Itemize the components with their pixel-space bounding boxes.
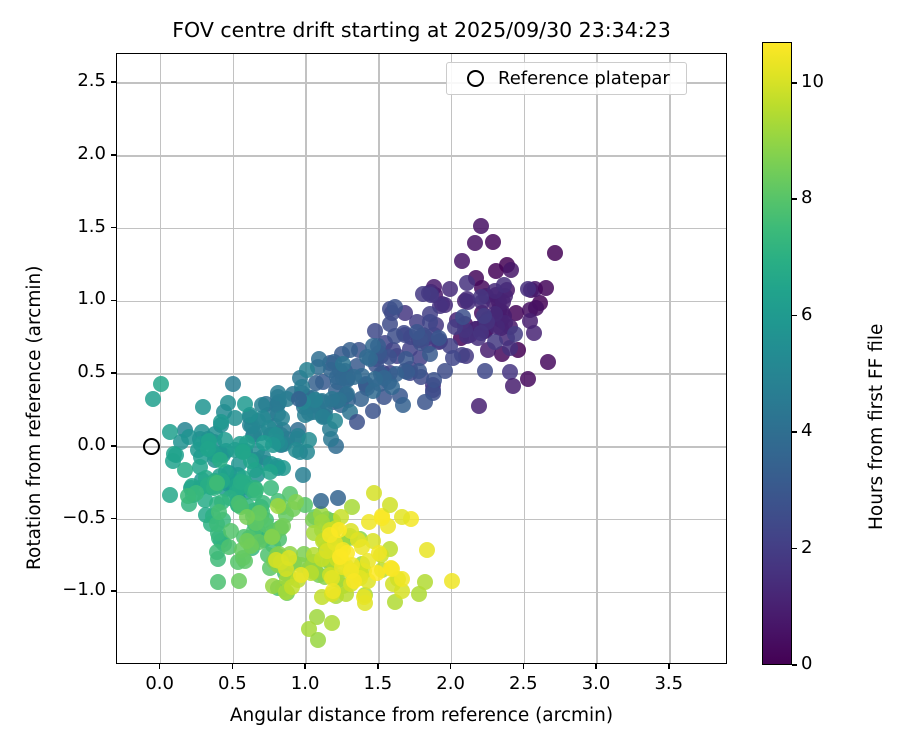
scatter-point [520, 281, 536, 297]
figure-canvas: FOV centre drift starting at 2025/09/30 … [0, 0, 900, 750]
scatter-point [264, 529, 280, 545]
legend: Reference platepar [446, 62, 687, 95]
x-tick-mark [668, 664, 670, 669]
y-tick-label: 2.5 [18, 70, 106, 91]
scatter-point [262, 464, 278, 480]
scatter-point [442, 281, 458, 297]
colorbar-tick-label: 4 [801, 420, 812, 441]
x-tick-label: 3.0 [556, 673, 636, 694]
scatter-point [295, 467, 311, 483]
colorbar-tick-label: 0 [801, 653, 812, 674]
scatter-point [496, 277, 512, 293]
y-tick-mark [111, 445, 116, 447]
x-tick-label: 0.5 [192, 673, 272, 694]
colorbar-tick-label: 8 [801, 187, 812, 208]
scatter-point [417, 574, 433, 590]
scatter-point [225, 376, 241, 392]
scatter-point [210, 574, 226, 590]
x-tick-mark [377, 664, 379, 669]
scatter-point [444, 573, 460, 589]
scatter-point [417, 394, 433, 410]
x-tick-mark [450, 664, 452, 669]
x-tick-label: 2.5 [483, 673, 563, 694]
scatter-point [538, 280, 554, 296]
scatter-point [177, 462, 193, 478]
scatter-point [227, 410, 243, 426]
colorbar-label: Hours from first FF file [866, 324, 887, 530]
colorbar-tick-label: 2 [801, 537, 812, 558]
scatter-point [162, 487, 178, 503]
scatter-point [365, 403, 381, 419]
scatter-point [324, 615, 340, 631]
scatter-point [180, 488, 196, 504]
chart-title: FOV centre drift starting at 2025/09/30 … [116, 18, 727, 42]
scatter-point [369, 565, 385, 581]
x-tick-mark [595, 664, 597, 669]
scatter-point [346, 369, 362, 385]
y-tick-mark [111, 227, 116, 229]
scatter-point [145, 391, 161, 407]
scatter-point [384, 561, 400, 577]
y-tick-label: −1.0 [18, 579, 106, 600]
y-axis-label: Rotation from reference (arcmin) [24, 266, 45, 570]
scatter-point [485, 234, 501, 250]
colorbar-tick-mark [792, 548, 797, 550]
scatter-point [459, 275, 475, 291]
scatter-point [209, 475, 225, 491]
y-tick-mark [111, 590, 116, 592]
x-tick-mark [232, 664, 234, 669]
scatter-point [395, 397, 411, 413]
x-tick-label: 3.5 [629, 673, 709, 694]
scatter-point [422, 346, 438, 362]
scatter-point [153, 376, 169, 392]
scatter-point [477, 363, 493, 379]
scatter-point [473, 218, 489, 234]
scatter-point [487, 334, 503, 350]
scatter-point [270, 498, 286, 514]
colorbar-tick-mark [792, 431, 797, 433]
scatter-point [293, 567, 309, 583]
colorbar-tick-label: 6 [801, 304, 812, 325]
scatter-point [503, 262, 519, 278]
x-axis-label: Angular distance from reference (arcmin) [116, 705, 727, 726]
scatter-point [239, 509, 255, 525]
scatter-point [220, 395, 236, 411]
scatter-point [547, 245, 563, 261]
scatter-point [330, 490, 346, 506]
colorbar-tick-mark [792, 664, 797, 666]
colorbar-tick-mark [792, 315, 797, 317]
scatter-point [346, 573, 362, 589]
scatter-point [342, 342, 358, 358]
scatter-point [235, 444, 251, 460]
scatter-point [540, 354, 556, 370]
open-circle-icon [467, 70, 484, 87]
scatter-point [325, 583, 341, 599]
scatter-point [473, 289, 489, 305]
scatter-point [526, 325, 542, 341]
x-tick-label: 1.5 [338, 673, 418, 694]
scatter-point [335, 356, 351, 372]
scatter-point [471, 398, 487, 414]
y-tick-mark [111, 154, 116, 156]
scatter-points-layer [117, 54, 726, 663]
colorbar-tick-label: 10 [801, 71, 824, 92]
x-tick-label: 1.0 [265, 673, 345, 694]
scatter-point [327, 413, 343, 429]
y-tick-label: 1.5 [18, 216, 106, 237]
y-tick-mark [111, 300, 116, 302]
scatter-point [311, 351, 327, 367]
scatter-point [505, 378, 521, 394]
scatter-point [366, 485, 382, 501]
scatter-point [426, 372, 442, 388]
scatter-point [507, 326, 523, 342]
scatter-point [212, 452, 228, 468]
scatter-point [223, 523, 239, 539]
scatter-point [237, 396, 253, 412]
scatter-point [301, 432, 317, 448]
x-tick-mark [159, 664, 161, 669]
x-tick-label: 2.0 [411, 673, 491, 694]
colorbar [762, 42, 792, 665]
legend-label-reference-platepar: Reference platepar [498, 68, 676, 89]
plot-area [116, 53, 727, 664]
scatter-point [239, 533, 255, 549]
scatter-point [371, 545, 387, 561]
scatter-point [520, 371, 536, 387]
scatter-point [231, 573, 247, 589]
scatter-point [367, 323, 383, 339]
y-tick-mark [111, 81, 116, 83]
scatter-point [394, 509, 410, 525]
y-tick-mark [111, 518, 116, 520]
scatter-point [291, 391, 307, 407]
y-tick-mark [111, 372, 116, 374]
x-tick-mark [304, 664, 306, 669]
scatter-point [162, 424, 178, 440]
scatter-point [467, 235, 483, 251]
colorbar-tick-mark [792, 198, 797, 200]
scatter-point [274, 410, 290, 426]
x-tick-mark [523, 664, 525, 669]
y-tick-label: 2.0 [18, 143, 106, 164]
scatter-point [195, 399, 211, 415]
scatter-point [281, 550, 297, 566]
scatter-point [213, 414, 229, 430]
x-tick-label: 0.0 [120, 673, 200, 694]
scatter-point [310, 632, 326, 648]
scatter-point [419, 542, 435, 558]
scatter-point [454, 253, 470, 269]
colorbar-gradient [763, 43, 791, 664]
scatter-point [349, 414, 365, 430]
colorbar-tick-mark [792, 82, 797, 84]
scatter-point [313, 493, 329, 509]
